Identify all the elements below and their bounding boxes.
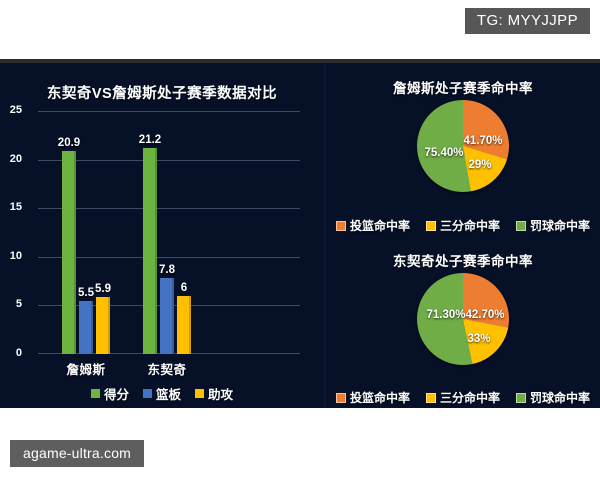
tg-handle-tag: TG: MYYJJPP: [465, 8, 590, 34]
bar-james-points[interactable]: 20.9: [62, 151, 76, 354]
legend-item-assists[interactable]: 助攻: [195, 384, 233, 403]
pie-chart-james: 詹姆斯处子赛季命中率 41.70% 29% 75.40% 投篮命中率 三分命中率: [326, 67, 600, 240]
legend-item-field-goal[interactable]: 投篮命中率: [336, 217, 410, 234]
legend-item-rebounds[interactable]: 篮板: [143, 384, 181, 403]
pie-slice-label-3p: 29%: [468, 159, 491, 171]
bar-james-assists[interactable]: 5.9: [96, 297, 110, 354]
legend-label: 三分命中率: [440, 217, 500, 234]
pie-graphic-wrapper: 42.70% 33% 71.30%: [417, 273, 509, 365]
legend-label: 篮板: [156, 384, 181, 403]
legend-label: 助攻: [208, 384, 233, 403]
pie-chart-title: 东契奇处子赛季命中率: [326, 250, 600, 270]
pie-slice-label-ft: 71.30%: [426, 309, 465, 321]
y-tick-0: 0: [0, 347, 22, 359]
pie-chart-legend: 投篮命中率 三分命中率 罚球命中率: [326, 389, 600, 406]
legend-swatch-icon: [336, 221, 346, 231]
legend-item-points[interactable]: 得分: [91, 384, 129, 403]
y-tick-15: 15: [0, 201, 22, 213]
pie-graphic-wrapper: 41.70% 29% 75.40%: [417, 100, 509, 192]
bar-series-container: 20.9 5.5 5.9 21.2: [38, 111, 300, 354]
pie-slice-label-ft: 75.40%: [424, 147, 463, 159]
legend-item-three-point[interactable]: 三分命中率: [426, 389, 500, 406]
site-watermark: agame-ultra.com: [10, 440, 144, 467]
pie-chart-legend: 投篮命中率 三分命中率 罚球命中率: [326, 217, 600, 234]
y-tick-20: 20: [0, 153, 22, 165]
bar-value-label: 5.9: [95, 283, 111, 295]
bar-doncic-points[interactable]: 21.2: [143, 148, 157, 354]
dark-content-panel: 东契奇VS詹姆斯处子赛季数据对比 25 20 15 10 5 0: [0, 59, 600, 408]
pie-slice-label-3p: 33%: [467, 333, 490, 345]
bar-value-label: 5.5: [78, 287, 94, 299]
legend-item-free-throw[interactable]: 罚球命中率: [516, 389, 590, 406]
bar-value-label: 21.2: [139, 134, 161, 146]
page-root: TG: MYYJJPP agame-ultra.com 东契奇VS詹姆斯处子赛季…: [0, 0, 600, 480]
bar-doncic-rebounds[interactable]: 7.8: [160, 278, 174, 354]
legend-item-free-throw[interactable]: 罚球命中率: [516, 217, 590, 234]
legend-swatch-icon: [91, 389, 100, 398]
legend-item-field-goal[interactable]: 投篮命中率: [336, 389, 410, 406]
bar-group-james: 20.9 5.5 5.9: [62, 111, 110, 354]
legend-label: 投篮命中率: [350, 389, 410, 406]
bar-value-label: 6: [181, 282, 187, 294]
legend-swatch-icon: [426, 393, 436, 403]
bar-plot-area: 20.9 5.5 5.9 21.2: [38, 111, 300, 354]
bar-chart-title: 东契奇VS詹姆斯处子赛季数据对比: [0, 82, 324, 103]
bar-chart: 东契奇VS詹姆斯处子赛季数据对比 25 20 15 10 5 0: [0, 63, 324, 408]
legend-swatch-icon: [516, 393, 526, 403]
bar-value-label: 20.9: [58, 137, 80, 149]
x-axis-labels: 詹姆斯 东契奇: [38, 359, 300, 379]
bar-group-doncic: 21.2 7.8 6: [143, 111, 191, 354]
pie-chart-title: 詹姆斯处子赛季命中率: [326, 77, 600, 97]
y-tick-25: 25: [0, 104, 22, 116]
x-label-james: 詹姆斯: [66, 359, 105, 378]
legend-item-three-point[interactable]: 三分命中率: [426, 217, 500, 234]
pie-chart-doncic: 东契奇处子赛季命中率 42.70% 33% 71.30% 投篮命中率 三分命中率: [326, 240, 600, 408]
y-tick-5: 5: [0, 298, 22, 310]
legend-label: 三分命中率: [440, 389, 500, 406]
bar-value-label: 7.8: [159, 264, 175, 276]
bar-james-rebounds[interactable]: 5.5: [79, 301, 93, 355]
pie-slice-label-fg: 42.70%: [465, 309, 504, 321]
legend-swatch-icon: [426, 221, 436, 231]
bar-doncic-assists[interactable]: 6: [177, 296, 191, 354]
legend-label: 得分: [104, 384, 129, 403]
bar-chart-legend: 得分 篮板 助攻: [0, 384, 324, 403]
x-label-doncic: 东契奇: [147, 359, 186, 378]
legend-swatch-icon: [336, 393, 346, 403]
legend-label: 罚球命中率: [530, 389, 590, 406]
legend-label: 投篮命中率: [350, 217, 410, 234]
legend-swatch-icon: [516, 221, 526, 231]
legend-swatch-icon: [195, 389, 204, 398]
legend-label: 罚球命中率: [530, 217, 590, 234]
y-tick-10: 10: [0, 250, 22, 262]
pie-slice-label-fg: 41.70%: [463, 135, 502, 147]
legend-swatch-icon: [143, 389, 152, 398]
